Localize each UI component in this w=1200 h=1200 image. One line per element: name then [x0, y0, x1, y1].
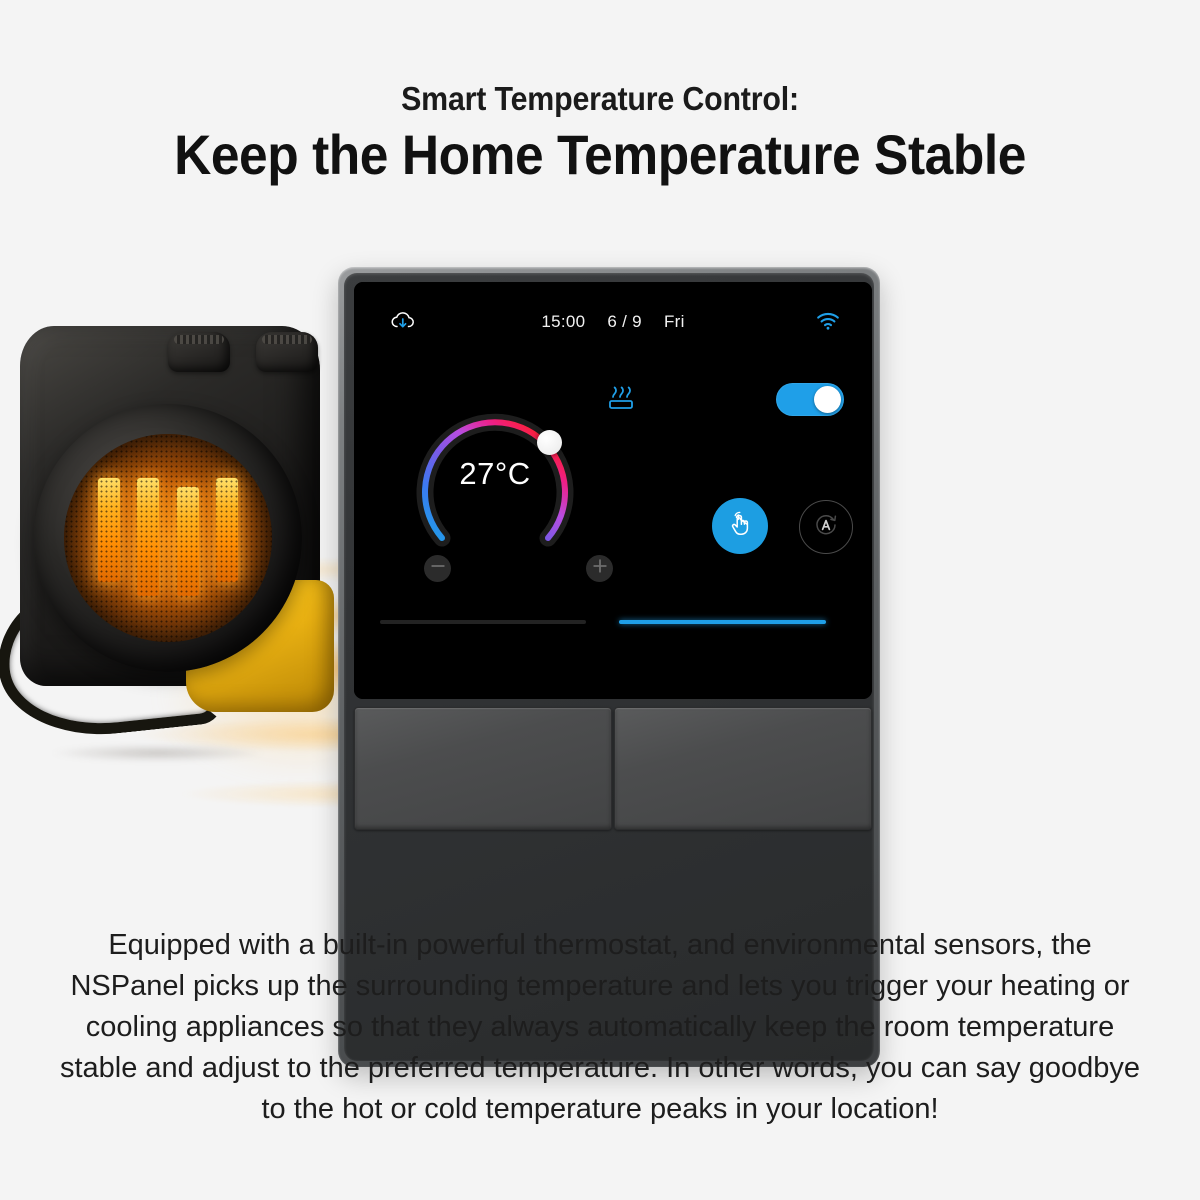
decrease-temperature-button[interactable] [424, 555, 451, 582]
auto-a-icon [811, 510, 841, 545]
heading-eyebrow: Smart Temperature Control: [48, 78, 1152, 120]
power-toggle[interactable] [776, 383, 844, 416]
manual-mode-button[interactable] [712, 498, 768, 554]
body-copy: Equipped with a built-in powerful thermo… [55, 925, 1145, 1130]
minus-icon [429, 557, 447, 580]
wifi-icon [816, 312, 840, 335]
knob-ridge [262, 335, 312, 344]
status-bar: 15:00 6 / 9 Fri [354, 308, 872, 336]
temperature-value: 27°C [400, 456, 590, 492]
page-heading: Smart Temperature Control: Keep the Home… [0, 78, 1200, 188]
grille-mesh [64, 434, 272, 642]
status-date: 6 / 9 [607, 312, 642, 332]
dial-knob-handle[interactable] [537, 430, 562, 455]
heater-grille [64, 434, 272, 642]
status-time: 15:00 [541, 312, 585, 332]
heater-front-ring [34, 404, 302, 672]
hw-button-right[interactable] [614, 707, 872, 830]
status-bar-center: 15:00 6 / 9 Fri [354, 312, 872, 332]
increase-temperature-button[interactable] [586, 555, 613, 582]
hero-scene: 15:00 6 / 9 Fri [0, 230, 1200, 870]
status-weekday: Fri [664, 312, 685, 332]
hardware-button-row [354, 707, 872, 830]
hw-button-left[interactable] [354, 707, 612, 830]
heater-knob-left [168, 332, 230, 372]
device-screen[interactable]: 15:00 6 / 9 Fri [354, 282, 872, 699]
page-title: Keep the Home Temperature Stable [48, 122, 1152, 188]
heater-shadow [8, 740, 308, 766]
plus-icon [591, 557, 609, 580]
ceramic-fan-heater [0, 312, 350, 792]
heat-waves-icon[interactable] [606, 385, 636, 418]
body-paragraph: Equipped with a built-in powerful thermo… [55, 925, 1145, 1130]
heater-knob-right [256, 332, 318, 372]
auto-mode-button[interactable] [799, 500, 853, 554]
page-indicator-2[interactable] [619, 620, 826, 624]
temperature-dial[interactable]: 27°C [400, 378, 590, 568]
page-indicator-1[interactable] [380, 620, 586, 624]
knob-ridge [174, 335, 224, 344]
toggle-knob [814, 386, 841, 413]
hand-tap-icon [726, 509, 754, 544]
